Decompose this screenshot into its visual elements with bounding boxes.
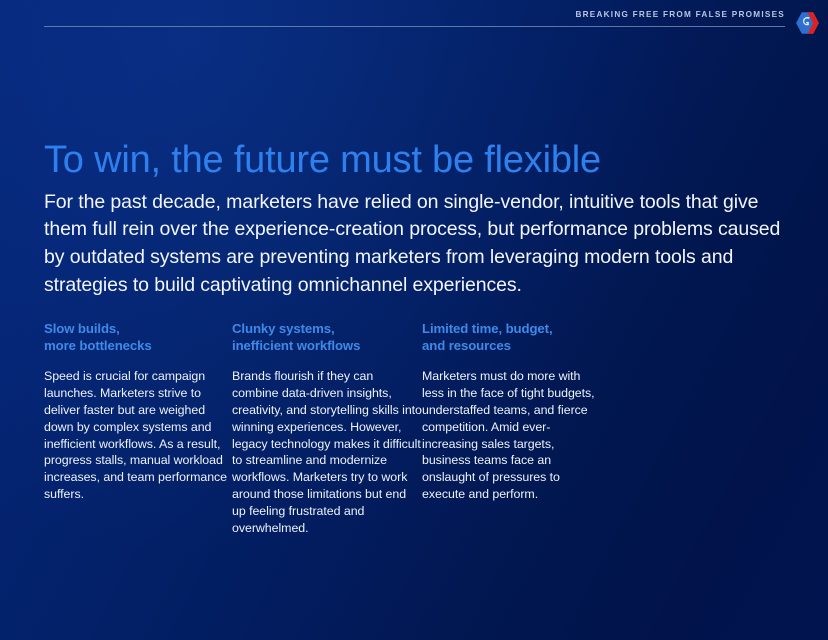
column-title: Limited time, budget, and resources (422, 320, 602, 354)
column-title: Clunky systems, inefficient workflows (232, 320, 422, 354)
column-title: Slow builds, more bottlenecks (44, 320, 232, 354)
slide-root: Breaking free from false promises To win… (0, 0, 828, 640)
column-body: Marketers must do more with less in the … (422, 368, 602, 502)
column-body: Speed is crucial for campaign launches. … (44, 368, 232, 502)
column-body: Brands flourish if they can combine data… (232, 368, 422, 536)
column-clunky-systems: Clunky systems, inefficient workflows Br… (232, 320, 422, 536)
column-limited-resources: Limited time, budget, and resources Mark… (422, 320, 602, 536)
slide-header: Breaking free from false promises (0, 0, 828, 46)
hexagon-brand-logo-icon (792, 8, 822, 38)
page-title: To win, the future must be flexible (44, 137, 601, 183)
three-column-section: Slow builds, more bottlenecks Speed is c… (44, 320, 804, 536)
eyebrow-label: Breaking free from false promises (575, 10, 785, 19)
lede-paragraph: For the past decade, marketers have reli… (44, 189, 784, 300)
column-slow-builds: Slow builds, more bottlenecks Speed is c… (44, 320, 232, 536)
header-divider (44, 26, 785, 27)
